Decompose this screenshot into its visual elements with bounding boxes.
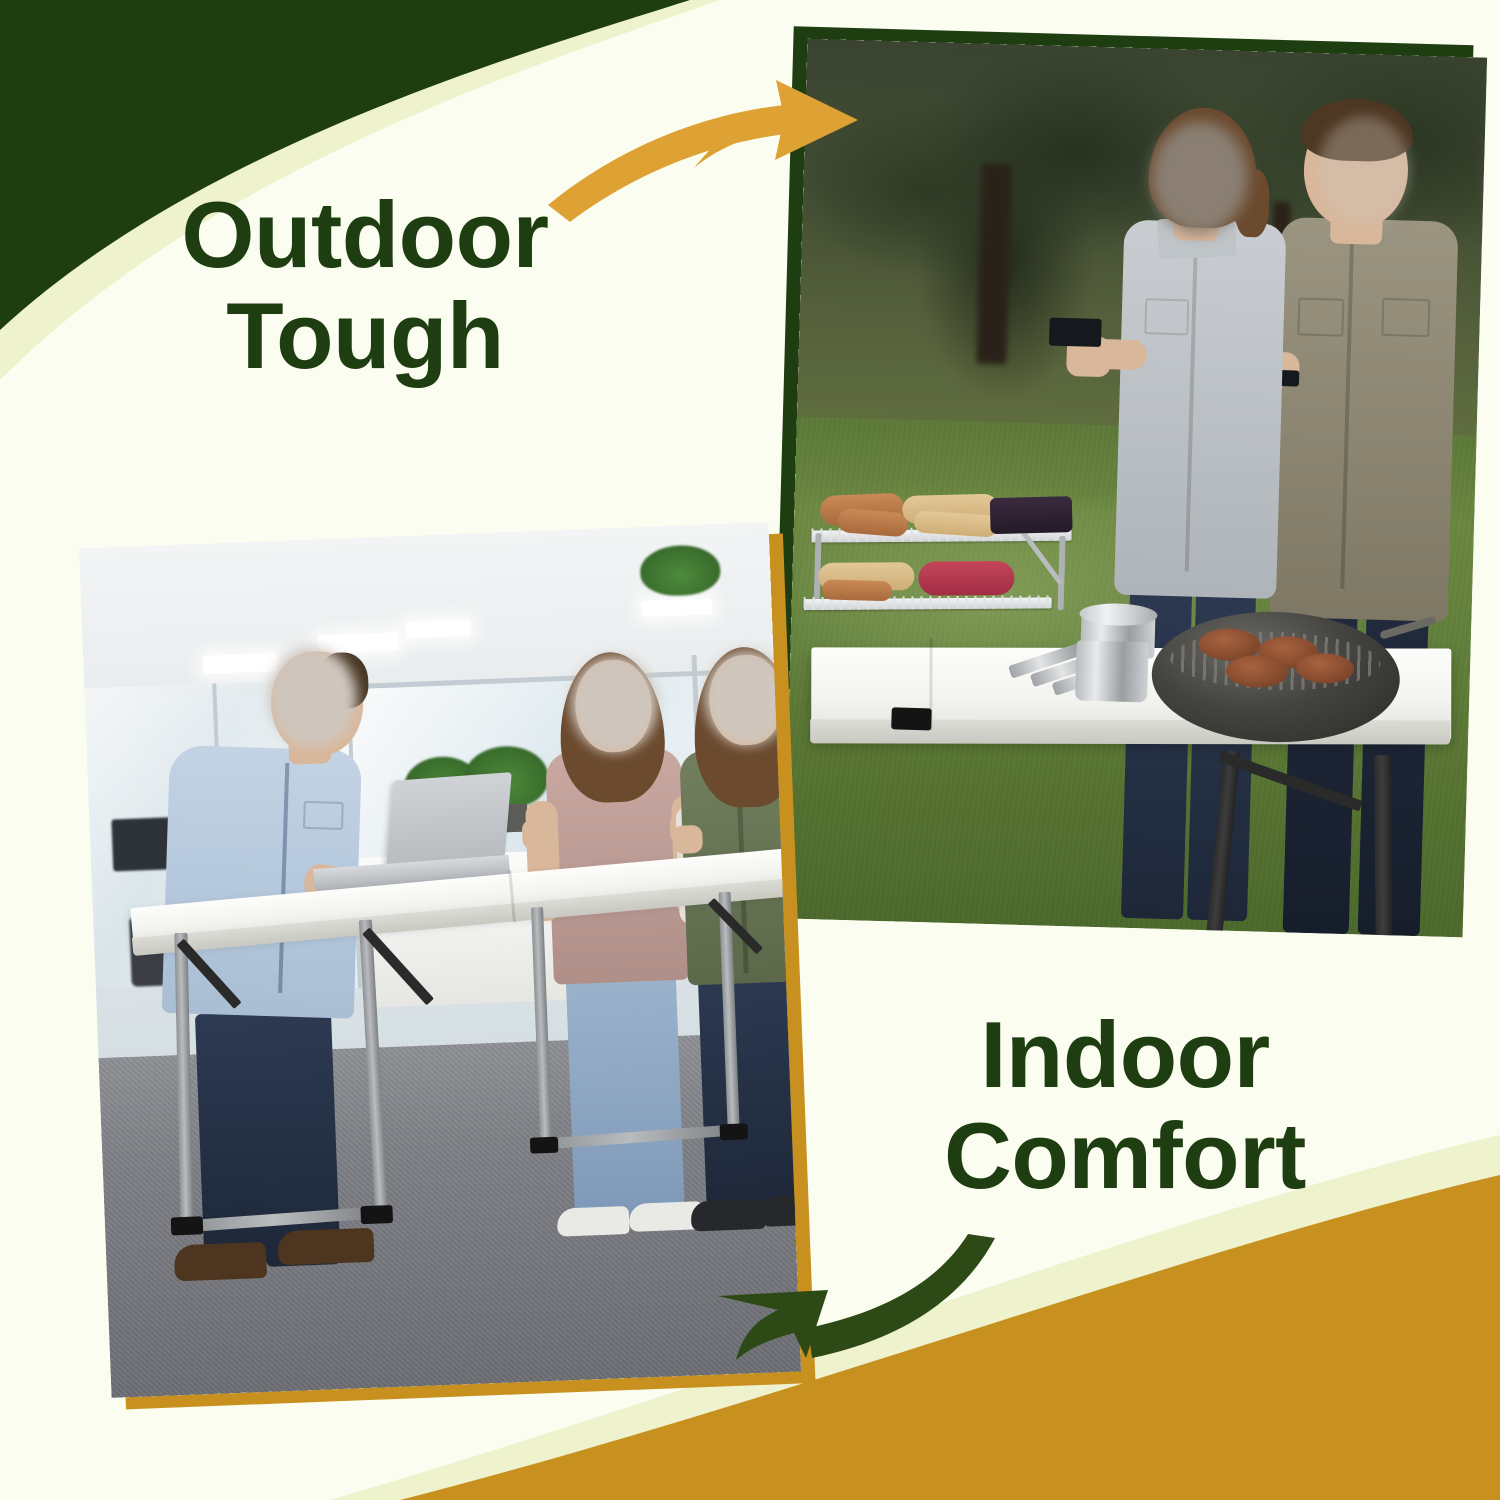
- woman-outdoor-shirt: [1114, 220, 1286, 599]
- indoor-photo[interactable]: [79, 522, 801, 1398]
- indoor-table-foot-2: [360, 1205, 393, 1224]
- woman-right-jeans-2: [751, 961, 801, 1213]
- ceiling-light-6: [641, 598, 712, 617]
- outdoor-photo[interactable]: [783, 39, 1487, 938]
- man-indoor-jeans-2: [257, 1009, 341, 1267]
- man-outdoor-pocket-left: [1297, 297, 1344, 336]
- outdoor-photo-content: [783, 39, 1487, 938]
- woman-center-hand-left: [522, 819, 555, 850]
- outdoor-table-foot: [891, 707, 932, 730]
- food-charcoal: [990, 496, 1073, 534]
- man-indoor-pocket: [303, 801, 344, 830]
- outdoor-table-leg-right: [1374, 755, 1392, 937]
- woman-center-jeans-2: [619, 966, 685, 1220]
- man-outdoor-shirt: [1269, 217, 1458, 622]
- woman-outdoor-pocket: [1144, 298, 1189, 335]
- ceiling-light-2: [318, 632, 399, 653]
- food-sausage-lower: [822, 579, 893, 601]
- indoor-table-foot-3: [530, 1137, 559, 1154]
- poster-canvas: Outdoor Tough Indoor Comfort: [0, 0, 1500, 1500]
- man-indoor-shoe-1: [174, 1242, 267, 1282]
- indoor-photo-content: [79, 522, 801, 1398]
- steel-saucepan: [1075, 640, 1149, 702]
- woman-right-hand-left: [672, 825, 703, 854]
- tree-trunk: [976, 164, 1012, 365]
- heading-indoor-comfort: Indoor Comfort: [890, 1005, 1360, 1206]
- woman-outdoor-phone: [1049, 318, 1102, 347]
- man-outdoor-pocket-right: [1381, 298, 1430, 337]
- indoor-table-foot-1: [171, 1216, 204, 1235]
- woman-center-shoe-1: [557, 1206, 630, 1237]
- ceiling-light-3: [406, 620, 471, 638]
- ceiling-light-1: [203, 653, 278, 674]
- woman-right-shoe-1: [690, 1199, 765, 1232]
- man-indoor-shoe-2: [277, 1228, 374, 1266]
- heading-outdoor-tough: Outdoor Tough: [105, 185, 625, 386]
- indoor-table-foot-4: [720, 1123, 749, 1140]
- food-raw-meat: [918, 561, 1014, 596]
